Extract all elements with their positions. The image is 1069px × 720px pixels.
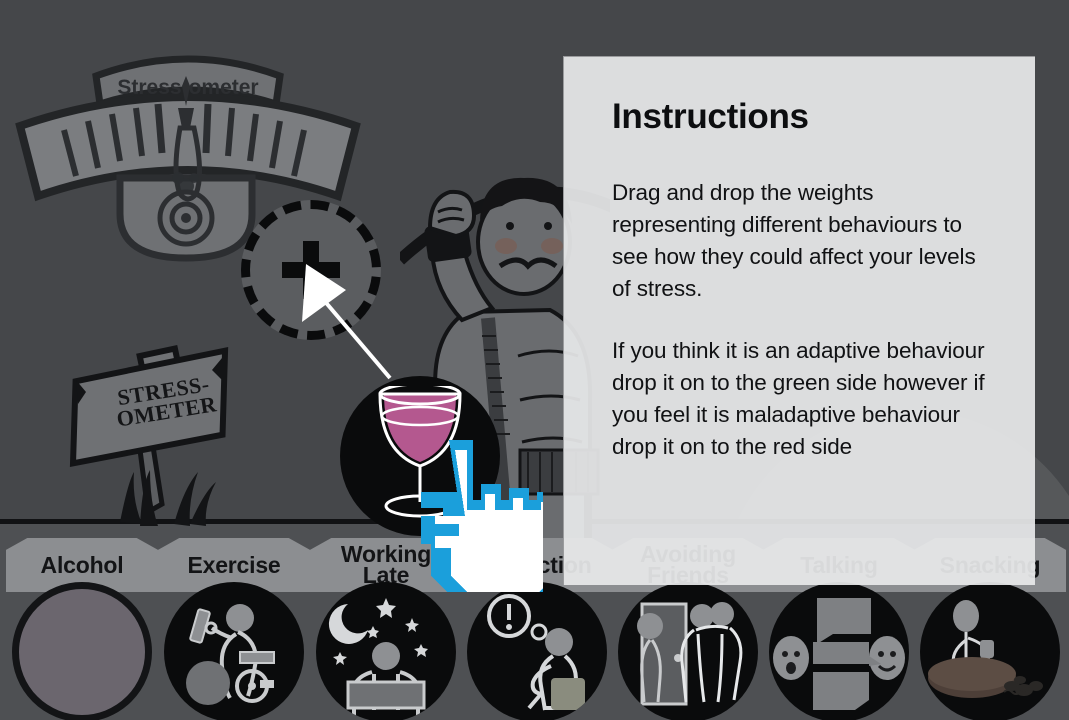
thinking-person-icon [467, 582, 607, 720]
stress-ometer-signpost: STRESS- OMETER [62, 332, 292, 542]
tray-slot-exercise[interactable]: Exercise [158, 538, 310, 720]
instructions-panel: Instructions Drag and drop the weights r… [563, 56, 1035, 585]
speech-faces-icon [769, 582, 909, 720]
tray-disc[interactable] [316, 582, 456, 720]
tray-item-label: Alcohol [41, 555, 124, 576]
tray-slot-alcohol[interactable]: Alcohol [6, 538, 158, 720]
night-desk-icon [316, 582, 456, 720]
drag-guide-arrow [280, 240, 410, 380]
panel-title: Instructions [612, 97, 991, 137]
tray-disc[interactable] [769, 582, 909, 720]
door-avoid-icon [618, 582, 758, 720]
tray-disc-empty[interactable] [12, 582, 152, 720]
tray-item-label: Working Late [341, 544, 431, 586]
tray-disc[interactable] [618, 582, 758, 720]
tray-disc[interactable] [920, 582, 1060, 720]
tray-disc[interactable] [467, 582, 607, 720]
tray-disc[interactable] [164, 582, 304, 720]
game-canvas: Stress-ometer Stress-ometer STRESS- OMET… [0, 0, 1069, 720]
instructions-paragraph-2: If you think it is an adaptive behaviour… [612, 335, 991, 463]
exercise-bike-icon [164, 582, 304, 720]
pointing-hand-cursor [421, 432, 543, 592]
tray-item-label: Exercise [187, 555, 280, 576]
gauge-label: Stress-ometer [117, 76, 258, 99]
snacking-icon [920, 582, 1060, 720]
instructions-paragraph-1: Drag and drop the weights representing d… [612, 177, 991, 305]
